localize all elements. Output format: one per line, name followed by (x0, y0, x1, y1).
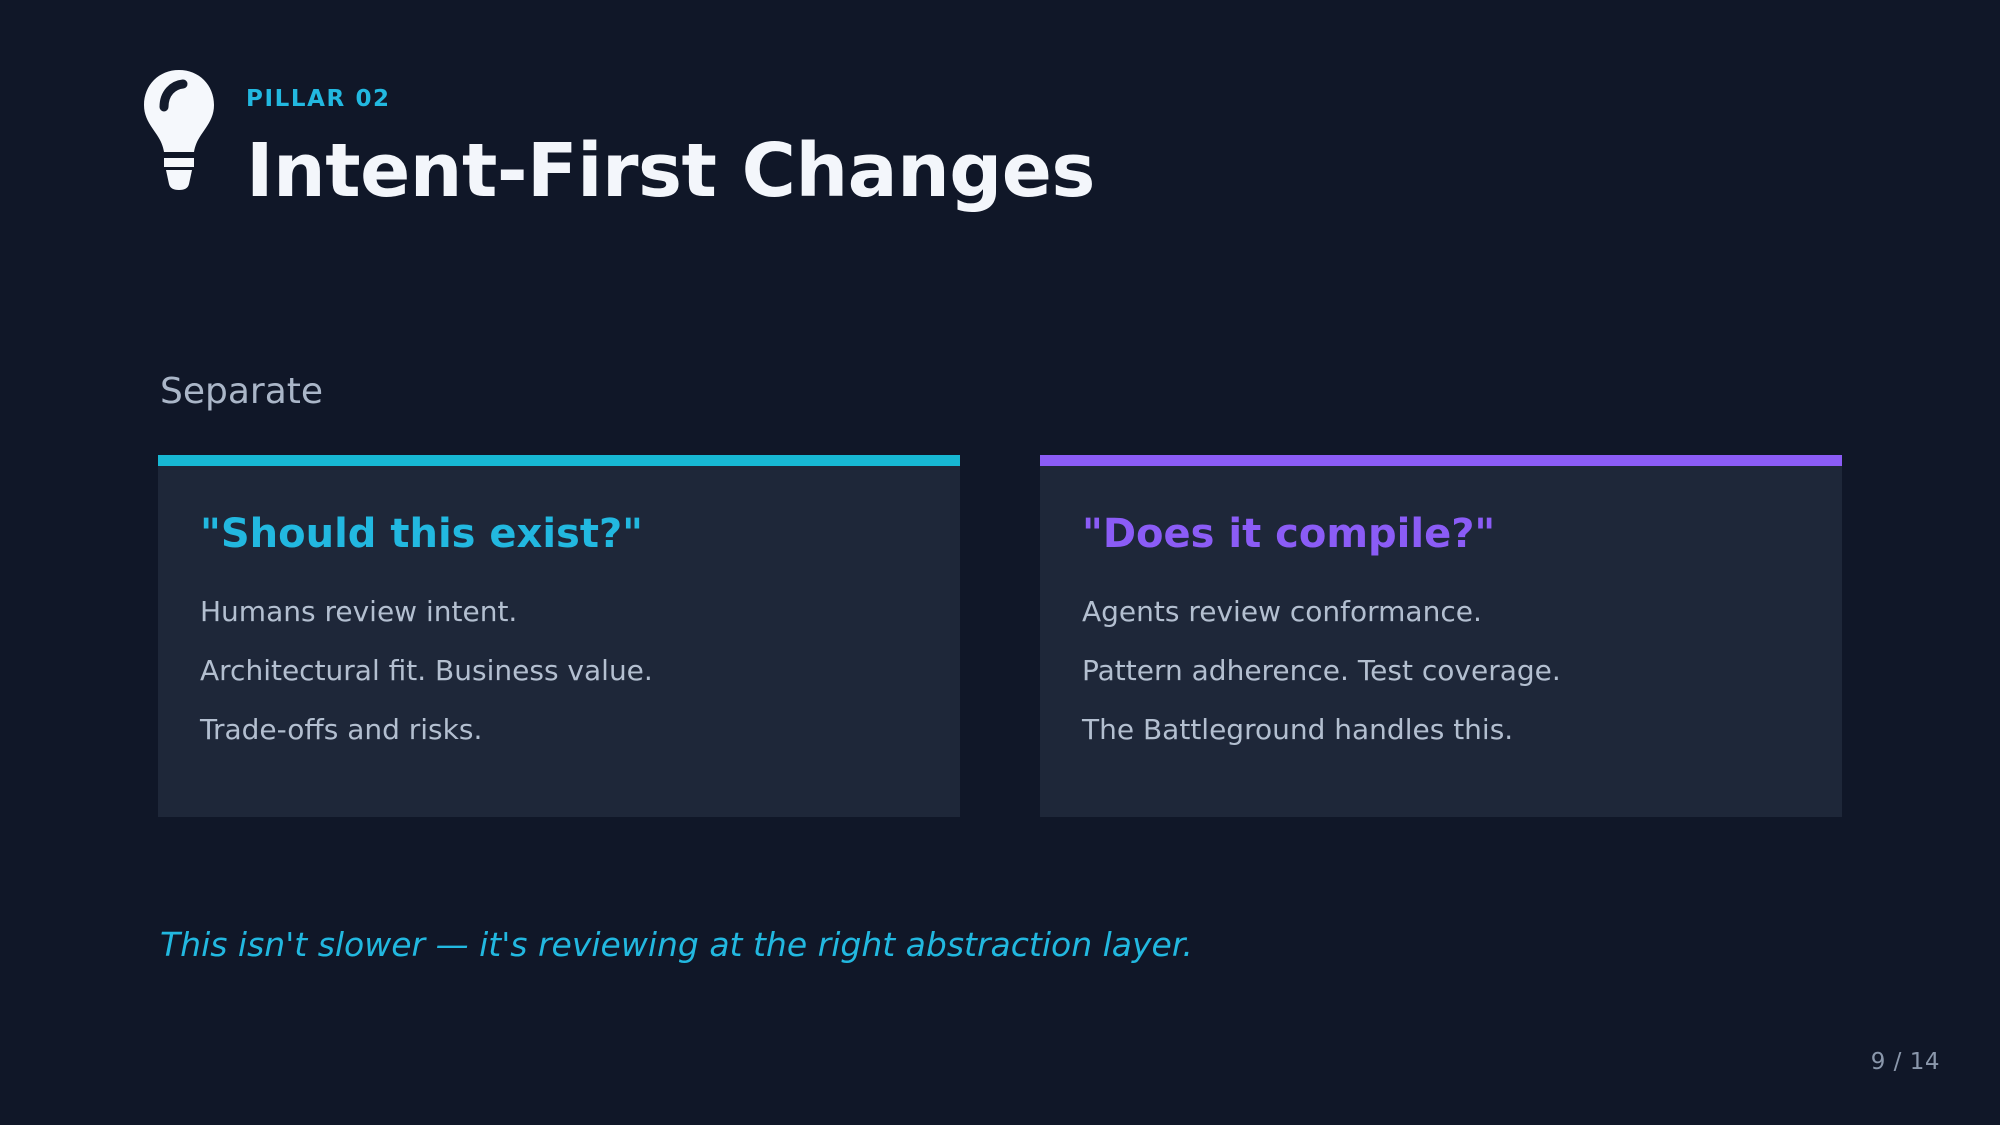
slide: PILLAR 02 Intent-First Changes Separate … (0, 0, 2000, 1125)
card-line: Agents review conformance. (1082, 598, 1800, 626)
slide-footnote: This isn't slower — it's reviewing at th… (160, 925, 1193, 965)
card-does-it-compile: "Does it compile?" Agents review conform… (1040, 455, 1842, 817)
card-body: "Should this exist?" Humans review inten… (158, 466, 960, 784)
card-accent-bar (1040, 455, 1842, 466)
card-line: Pattern adherence. Test coverage. (1082, 657, 1800, 685)
card-accent-bar (158, 455, 960, 466)
card-heading: "Should this exist?" (200, 512, 918, 556)
card-line: The Battleground handles this. (1082, 716, 1800, 744)
lightbulb-icon (140, 66, 218, 196)
card-heading: "Does it compile?" (1082, 512, 1800, 556)
slide-header: PILLAR 02 Intent-First Changes (140, 62, 1095, 211)
card-line: Architectural fit. Business value. (200, 657, 918, 685)
card-group: "Should this exist?" Humans review inten… (158, 455, 1842, 817)
page-number: 9 / 14 (1871, 1049, 1940, 1075)
header-text-group: PILLAR 02 Intent-First Changes (246, 62, 1095, 211)
section-label: Separate (160, 370, 323, 413)
page-title: Intent-First Changes (246, 133, 1095, 211)
card-should-this-exist: "Should this exist?" Humans review inten… (158, 455, 960, 817)
card-line: Humans review intent. (200, 598, 918, 626)
pillar-eyebrow: PILLAR 02 (246, 88, 1095, 111)
card-line: Trade-offs and risks. (200, 716, 918, 744)
card-body: "Does it compile?" Agents review conform… (1040, 466, 1842, 784)
